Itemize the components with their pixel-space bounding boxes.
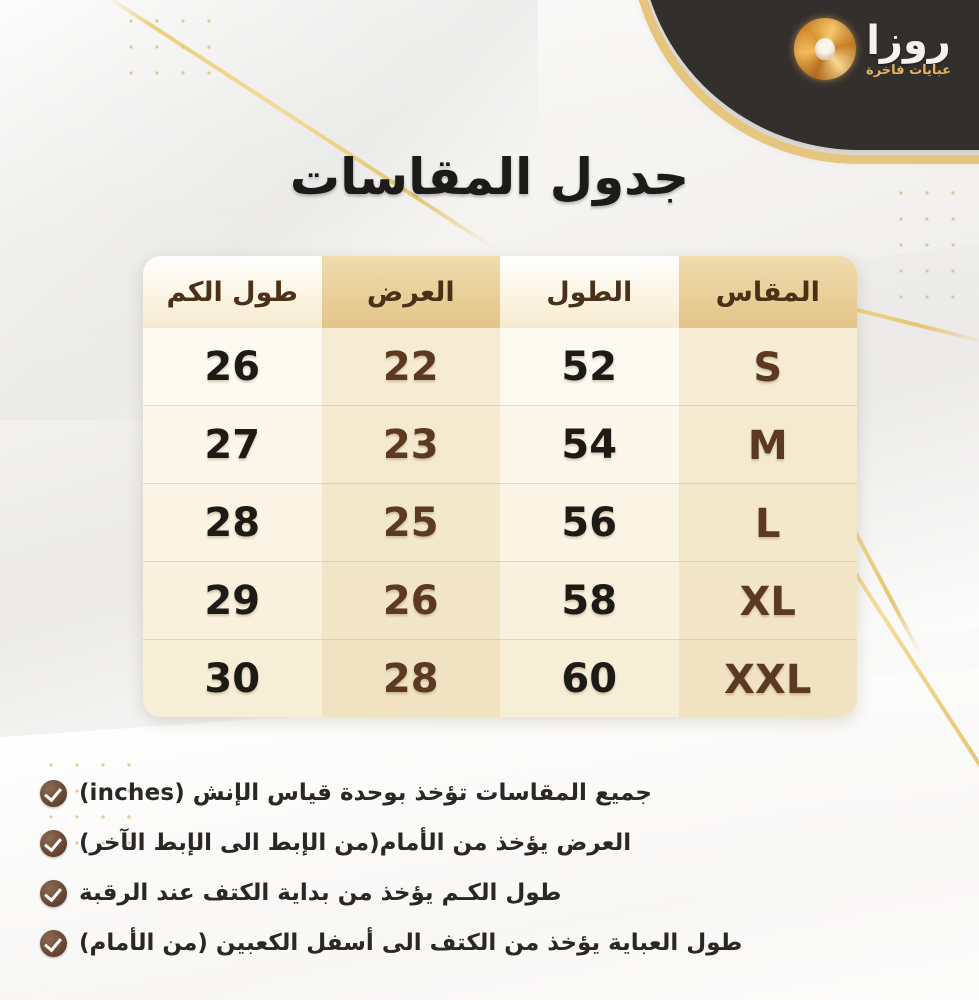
cell-width: 26 <box>322 562 501 640</box>
table-row: XXL 60 28 30 <box>143 640 857 718</box>
cell-length: 58 <box>500 562 679 640</box>
page-title: جدول المقاسات <box>0 148 979 206</box>
cell-length: 52 <box>500 328 679 406</box>
column-header-size: المقاس <box>679 256 858 328</box>
column-header-width: العرض <box>322 256 501 328</box>
cell-size: S <box>679 328 858 406</box>
size-table-container: المقاس الطول العرض طول الكم S 52 22 26 M… <box>143 256 857 717</box>
cell-size: XXL <box>679 640 858 718</box>
cell-size: XL <box>679 562 858 640</box>
size-value: S <box>753 345 782 391</box>
cell-width: 22 <box>322 328 501 406</box>
check-circle-icon <box>40 880 67 907</box>
check-circle-icon <box>40 780 67 807</box>
note-item: طول الكـم يؤخذ من بداية الكتف عند الرقبة <box>40 868 901 918</box>
size-table-body: S 52 22 26 M 54 23 27 L 56 25 28 <box>143 328 857 717</box>
cell-sleeve: 29 <box>143 562 322 640</box>
dot-grid-top-left <box>118 8 223 86</box>
cell-length: 54 <box>500 406 679 484</box>
size-table-header: المقاس الطول العرض طول الكم <box>143 256 857 328</box>
size-table: المقاس الطول العرض طول الكم S 52 22 26 M… <box>143 256 857 717</box>
table-row: S 52 22 26 <box>143 328 857 406</box>
brand-tagline: عبايات فاخرة <box>866 64 951 77</box>
brand-logo: روزا عبايات فاخرة <box>794 18 951 80</box>
table-row: L 56 25 28 <box>143 484 857 562</box>
cell-sleeve: 27 <box>143 406 322 484</box>
note-item: العرض يؤخذ من الأمام(من الإبط الى الإبط … <box>40 818 901 868</box>
note-item: طول العباية يؤخذ من الكتف الى أسفل الكعب… <box>40 918 901 968</box>
cell-length: 56 <box>500 484 679 562</box>
cell-width: 28 <box>322 640 501 718</box>
size-chart-page: روزا عبايات فاخرة جدول المقاسات المقاس ا… <box>0 0 979 1000</box>
brand-name: روزا <box>866 21 951 61</box>
cell-width: 25 <box>322 484 501 562</box>
size-value: XXL <box>724 657 811 703</box>
check-circle-icon <box>40 930 67 957</box>
rose-swirl-logo-icon <box>794 18 856 80</box>
note-item: جميع المقاسات تؤخذ بوحدة قياس الإنش (inc… <box>40 768 901 818</box>
column-header-length: الطول <box>500 256 679 328</box>
cell-size: M <box>679 406 858 484</box>
check-circle-icon <box>40 830 67 857</box>
note-text: طول العباية يؤخذ من الكتف الى أسفل الكعب… <box>79 930 742 956</box>
table-row: M 54 23 27 <box>143 406 857 484</box>
measurement-notes: جميع المقاسات تؤخذ بوحدة قياس الإنش (inc… <box>40 768 901 968</box>
header-row: المقاس الطول العرض طول الكم <box>143 256 857 328</box>
table-row: XL 58 26 29 <box>143 562 857 640</box>
cell-sleeve: 30 <box>143 640 322 718</box>
cell-sleeve: 28 <box>143 484 322 562</box>
size-value: M <box>748 423 788 469</box>
size-value: L <box>755 501 781 547</box>
column-header-sleeve: طول الكم <box>143 256 322 328</box>
cell-size: L <box>679 484 858 562</box>
size-value: XL <box>740 579 796 625</box>
brand-wordmark: روزا عبايات فاخرة <box>866 21 951 77</box>
note-text: العرض يؤخذ من الأمام(من الإبط الى الإبط … <box>79 830 631 856</box>
note-text: جميع المقاسات تؤخذ بوحدة قياس الإنش (inc… <box>79 780 652 806</box>
cell-sleeve: 26 <box>143 328 322 406</box>
cell-width: 23 <box>322 406 501 484</box>
note-text: طول الكـم يؤخذ من بداية الكتف عند الرقبة <box>79 880 561 906</box>
cell-length: 60 <box>500 640 679 718</box>
gold-diagonal-line-top-left <box>106 0 494 249</box>
